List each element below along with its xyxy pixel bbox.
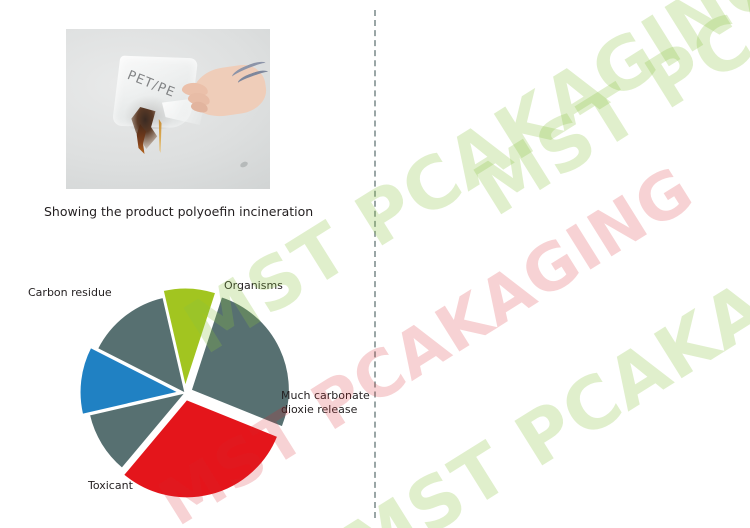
- pie-label-organisms: Organisms: [224, 279, 283, 293]
- panel-left: PET/PE Showing the product polyoefin inc…: [0, 0, 375, 528]
- panel-right: PLA/PBAT Showing the product afrer the i…: [375, 0, 750, 528]
- panel-divider: [374, 10, 376, 518]
- caption-left: Showing the product polyoefin incinerati…: [44, 203, 374, 221]
- polyolefin-burning-photo: PET/PE: [66, 29, 270, 189]
- pie-label-toxicant: Toxicant: [88, 479, 133, 493]
- pie-label-carbon-residue: Carbon residue: [28, 286, 112, 300]
- pie-label-carbonate-dioxide-release: Much carbonate dioxie release: [281, 389, 370, 417]
